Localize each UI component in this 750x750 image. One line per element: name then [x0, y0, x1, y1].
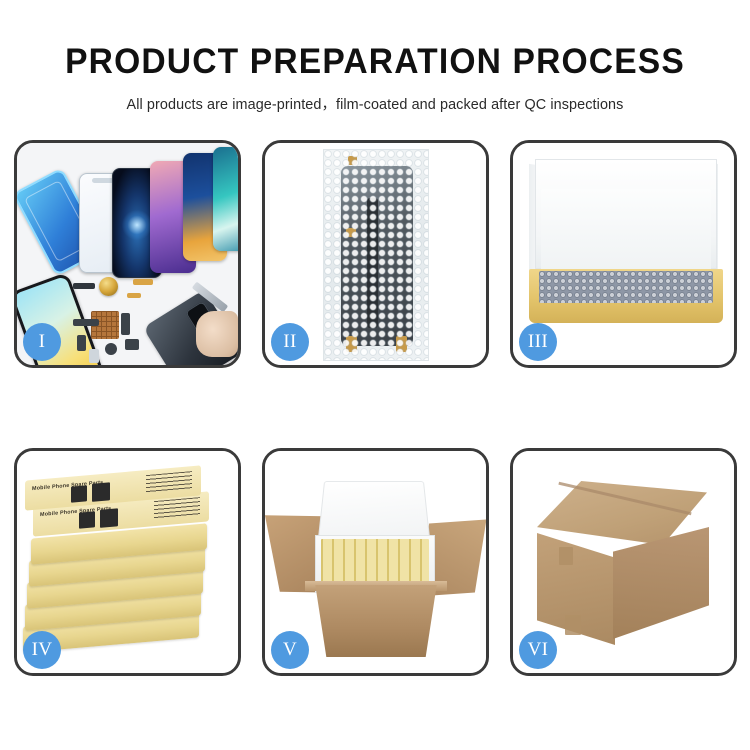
page-title: PRODUCT PREPARATION PROCESS [15, 42, 735, 82]
flex-cable-3 [121, 313, 130, 335]
bubble-texture-overlay [324, 150, 428, 360]
carton-right-face [613, 527, 709, 639]
step-badge-5: V [271, 631, 309, 669]
box-window-front-1 [79, 511, 95, 528]
page-header: PRODUCT PREPARATION PROCESS All products… [0, 0, 750, 114]
box-window-rear-2 [92, 482, 110, 502]
foam-lid-open [318, 481, 431, 542]
step-badge-3: III [519, 323, 557, 361]
step-panel-5: V [262, 448, 489, 676]
phone-teal-gradient [213, 147, 238, 251]
flex-cable-2 [77, 335, 86, 351]
box-window-rear-1 [71, 485, 87, 502]
gold-connector-2 [127, 293, 141, 298]
page-subtitle: All products are image-printed，film-coat… [0, 93, 750, 114]
hand-holding-tool [196, 311, 238, 357]
step-badge-4: IV [23, 631, 61, 669]
box-window-front-2 [100, 508, 118, 528]
flex-cable-1 [73, 319, 99, 326]
step-panel-2: II [262, 140, 489, 368]
speaker-module [105, 343, 117, 355]
step-badge-6: VI [519, 631, 557, 669]
carton-body [307, 585, 445, 657]
step-panel-3: III [510, 140, 737, 368]
product-preparation-process-page: PRODUCT PREPARATION PROCESS All products… [0, 0, 750, 750]
process-steps-grid: I II [14, 140, 736, 676]
step-panel-1: I [14, 140, 241, 368]
step-badge-1: I [23, 323, 61, 361]
bubble-wrapped-contents [539, 271, 713, 303]
flex-cable-4 [125, 339, 139, 350]
gold-coil-component [99, 277, 118, 296]
box-spec-lines-front [154, 497, 200, 520]
foam-sheet [541, 189, 711, 271]
sim-tray [89, 349, 99, 363]
carton-tape-upper [559, 547, 573, 565]
box-spec-lines-rear [146, 471, 192, 494]
step-panel-6: VI [510, 448, 737, 676]
gold-connector-1 [133, 279, 153, 285]
step-panel-4: Mobile Phone Spare Parts Mobile Phone Sp… [14, 448, 241, 676]
step-badge-2: II [271, 323, 309, 361]
carton-tape-lower [565, 615, 581, 635]
yellow-boxes-inside [321, 539, 429, 583]
component-bar-1 [73, 283, 95, 289]
bubble-wrap-bag [323, 149, 429, 361]
